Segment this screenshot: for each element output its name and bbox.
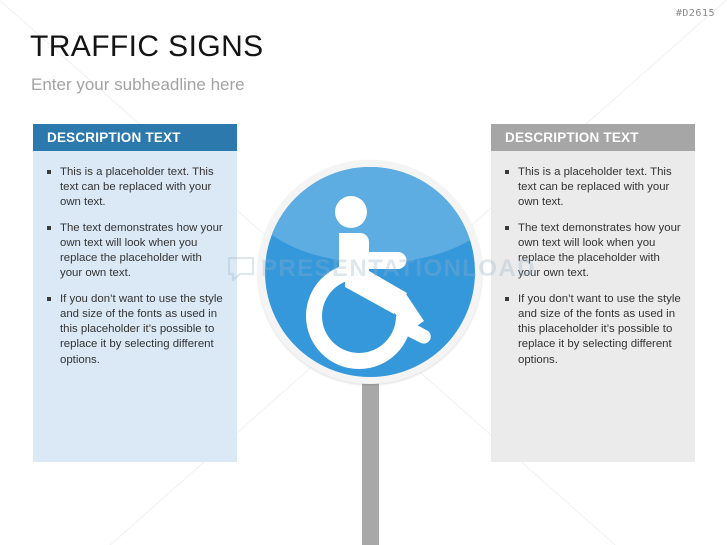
description-panel-right: DESCRIPTION TEXT This is a placeholder t… [491,124,695,462]
sign-post [362,360,379,545]
page-subtitle: Enter your subheadline here [31,76,245,95]
panel-body-left: This is a placeholder text. This text ca… [33,151,237,368]
list-item: The text demonstrates how your own text … [501,221,685,281]
bullet-list-right: This is a placeholder text. This text ca… [501,165,685,368]
panel-header-left: DESCRIPTION TEXT [33,124,237,151]
description-panel-left: DESCRIPTION TEXT This is a placeholder t… [33,124,237,462]
panel-header-right: DESCRIPTION TEXT [491,124,695,151]
list-item: If you don’t want to use the style and s… [501,292,685,367]
list-item: The text demonstrates how your own text … [43,221,227,281]
bullet-list-left: This is a placeholder text. This text ca… [43,165,227,368]
list-item: This is a placeholder text. This text ca… [501,165,685,210]
list-item: This is a placeholder text. This text ca… [43,165,227,210]
document-code: #D2615 [676,8,715,19]
slide-canvas: #D2615 TRAFFIC SIGNS Enter your subheadl… [0,0,727,545]
page-title: TRAFFIC SIGNS [30,30,264,63]
traffic-sign-graphic [258,160,483,545]
panel-body-right: This is a placeholder text. This text ca… [491,151,695,368]
wheelchair-icon [265,167,475,377]
list-item: If you don’t want to use the style and s… [43,292,227,367]
sign-disc-rim [258,160,482,384]
sign-face [265,167,475,377]
